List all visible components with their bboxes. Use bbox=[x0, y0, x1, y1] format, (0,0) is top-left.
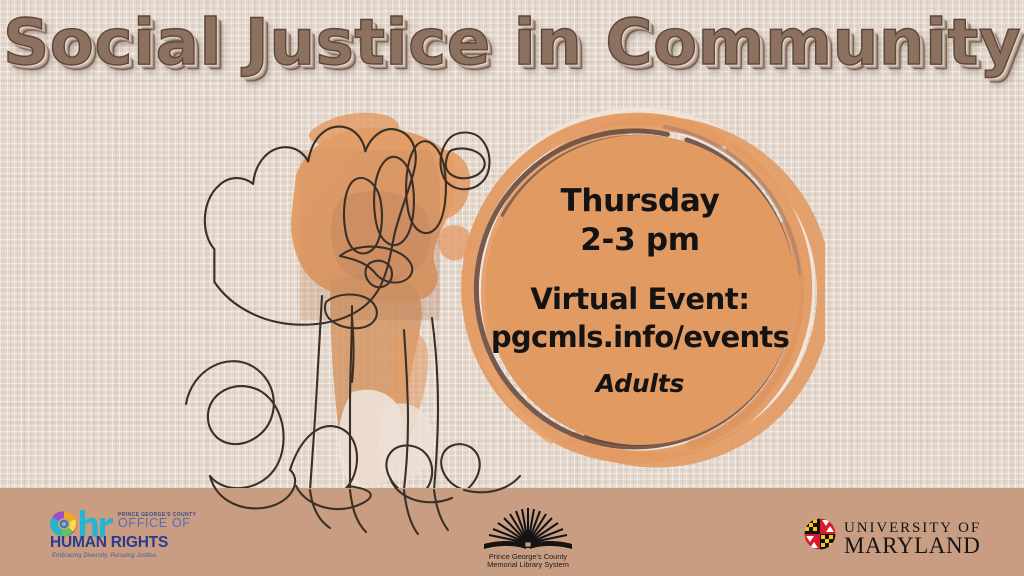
open-book-icon bbox=[484, 541, 572, 549]
ohr-tagline: Embracing Diversity, Pursuing Justice. bbox=[52, 553, 158, 559]
event-url[interactable]: pgcmls.info/events bbox=[491, 319, 789, 357]
event-time: 2-3 pm bbox=[580, 221, 700, 261]
ohr-line2: OFFICE OF bbox=[118, 516, 191, 530]
fist-contour-lines bbox=[205, 127, 490, 490]
umd-line2: MARYLAND bbox=[844, 533, 980, 558]
fist-shading bbox=[300, 150, 440, 320]
pgcmls-line2: Memorial Library System bbox=[487, 560, 569, 569]
title-container: Social Justice in Community bbox=[0, 10, 1024, 76]
brush-strokes-behind-fist bbox=[291, 113, 472, 488]
pgcmls-logo: Prince George's County Memorial Library … bbox=[468, 504, 588, 570]
page-title: Social Justice in Community bbox=[3, 10, 1021, 76]
event-details-circle: Thursday 2-3 pm Virtual Event: pgcmls.in… bbox=[455, 105, 825, 475]
umd-logo: UNIVERSITY OF MARYLAND bbox=[800, 512, 985, 560]
ohr-aperture-icon bbox=[50, 511, 76, 536]
ohr-wordmark bbox=[80, 510, 113, 537]
decorative-swirl-lines bbox=[186, 361, 480, 506]
event-day: Thursday bbox=[561, 182, 720, 222]
ohr-line3: HUMAN RIGHTS bbox=[50, 534, 168, 551]
event-audience: Adults bbox=[596, 369, 684, 398]
event-type-label: Virtual Event: bbox=[530, 281, 749, 319]
event-details-text: Thursday 2-3 pm Virtual Event: pgcmls.in… bbox=[485, 135, 795, 445]
sunburst-rays-icon bbox=[489, 508, 567, 543]
poster-canvas: Social Justice in Community bbox=[0, 0, 1024, 576]
ohr-logo: PRINCE GEORGE'S COUNTY OFFICE OF HUMAN R… bbox=[48, 508, 196, 564]
maryland-flag-globe-icon bbox=[804, 518, 836, 550]
